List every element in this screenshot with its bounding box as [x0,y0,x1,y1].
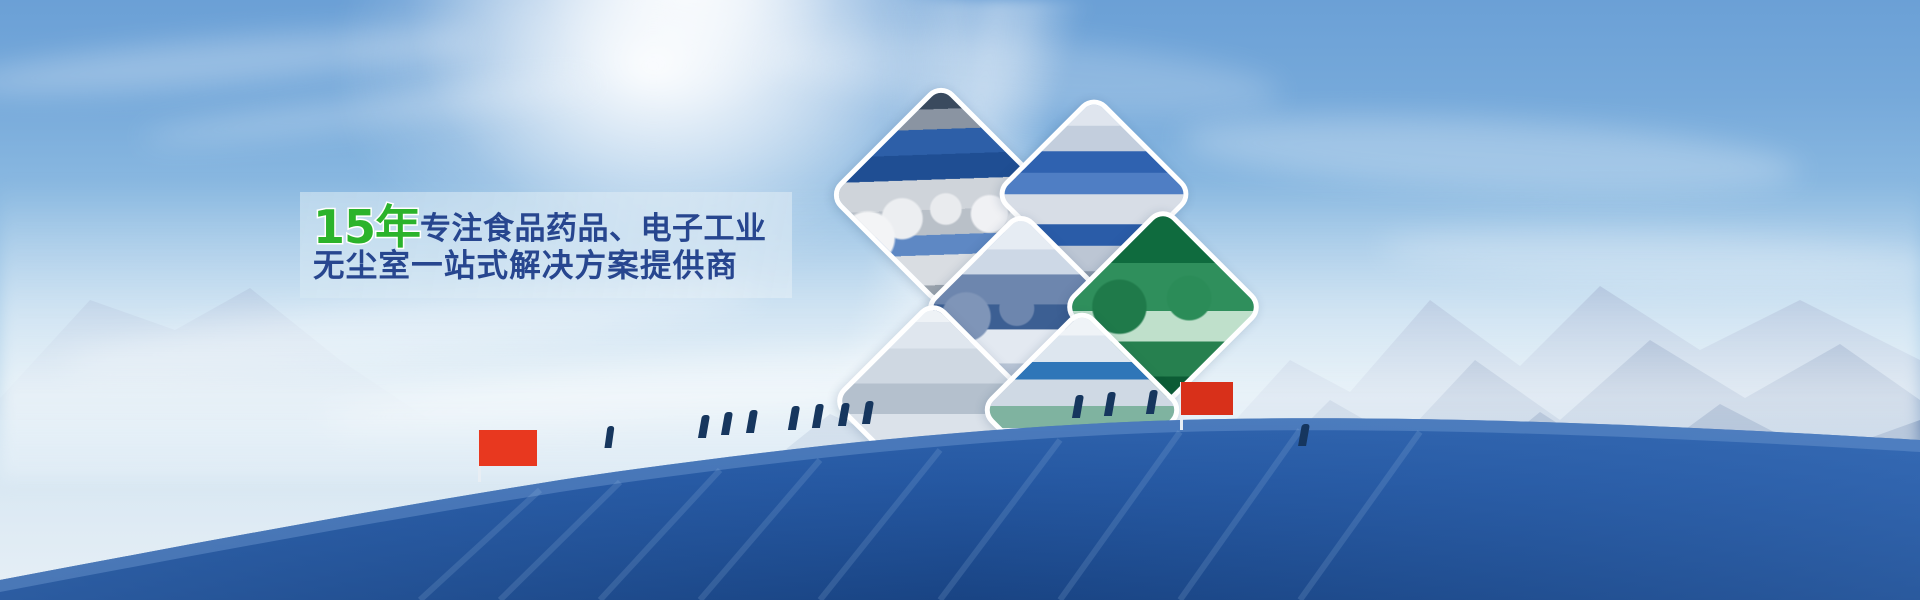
foreground-ridge [0,340,1920,600]
headline-block: 15年专注食品药品、电子工业 无尘室一站式解决方案提供商 [313,200,783,296]
headline-line-2: 无尘室一站式解决方案提供商 [313,248,783,296]
flag-cloth-icon [1181,382,1233,415]
flag-cloth-icon [479,430,537,466]
headline-line-1-rest: 专注食品药品、电子工业 [420,211,767,247]
years-unit: 年 [375,200,420,254]
hero-banner: 15年专注食品药品、电子工业 无尘室一站式解决方案提供商 [0,0,1920,600]
years-number: 15 [313,200,375,254]
headline-line-1: 15年专注食品药品、电子工业 [313,200,783,248]
